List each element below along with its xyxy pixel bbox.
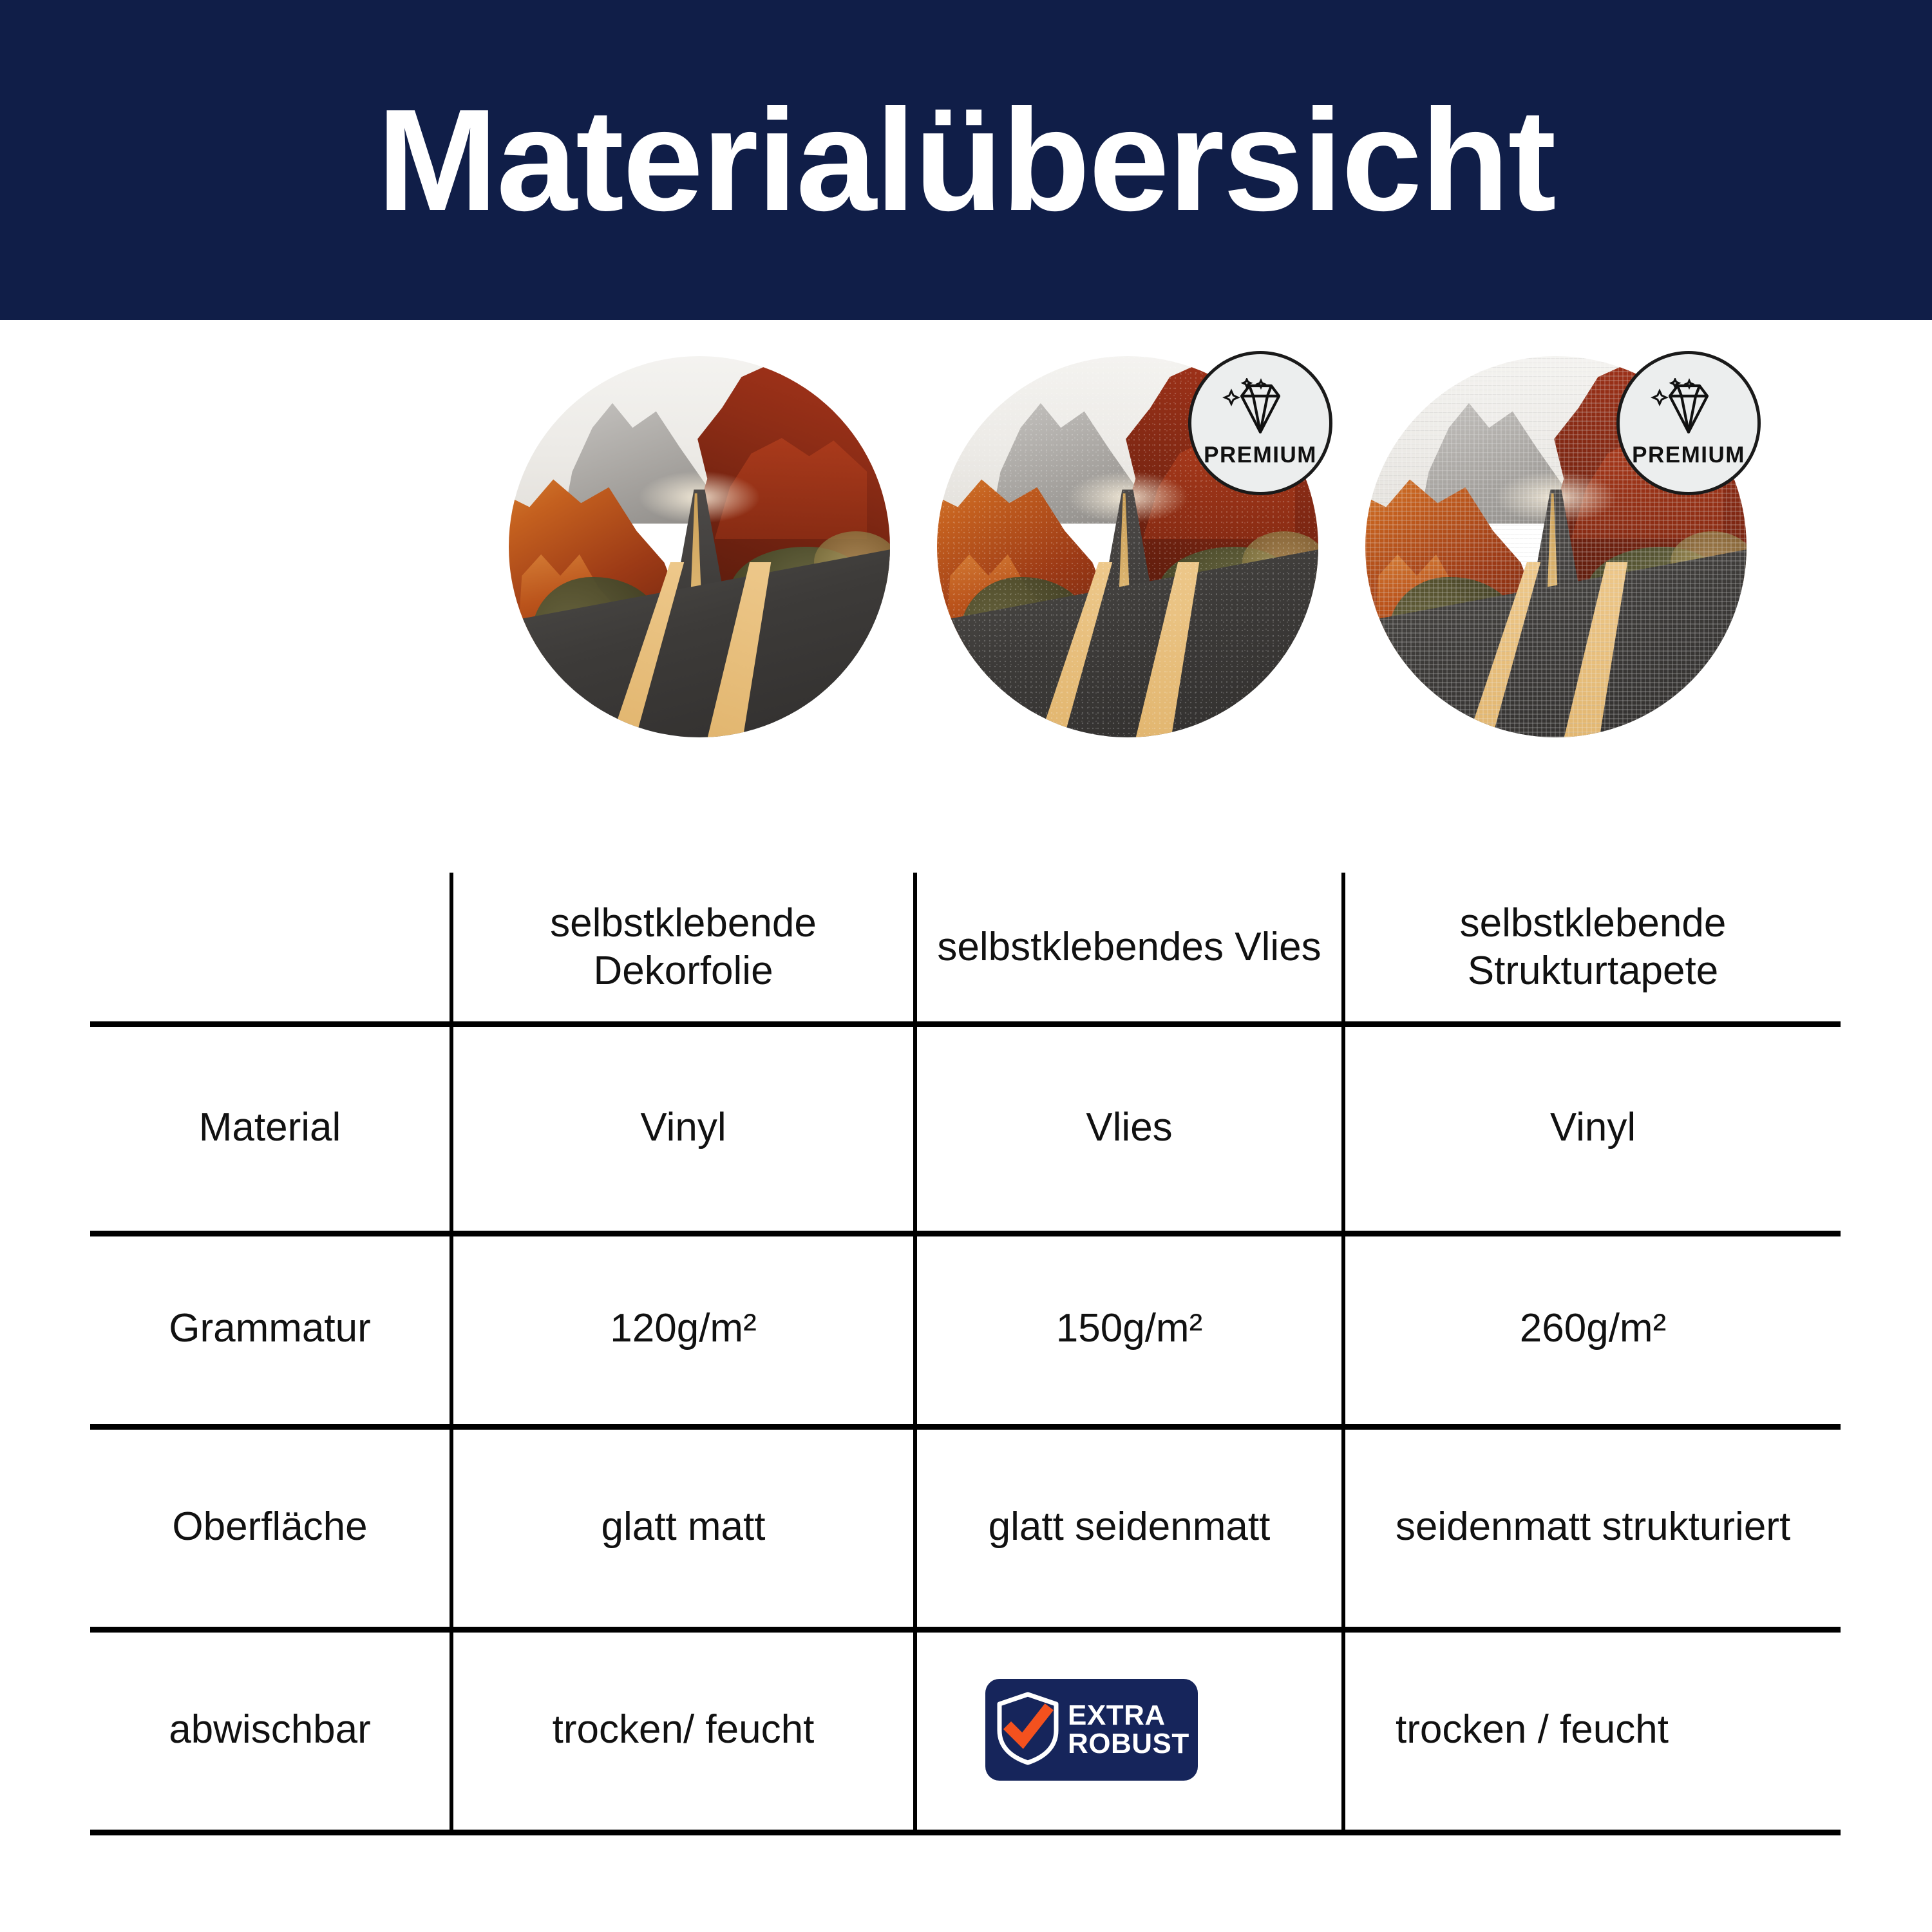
table-cell-abwischbar-dekorfolie: trocken/ feucht [453,1629,913,1830]
premium-badge: PREMIUM [1616,351,1761,495]
sample-image-dekorfolie [509,356,890,737]
table-row-label-material: Material [90,1024,450,1231]
table-header-strukturtapete: selbstklebende Strukturtapete [1345,873,1841,1021]
premium-badge-label: PREMIUM [1632,442,1745,468]
premium-badge-label: PREMIUM [1204,442,1317,468]
premium-badge: PREMIUM [1188,351,1332,495]
page-title: Materialübersicht [377,88,1555,232]
table-cell-grammatur-dekorfolie: 120g/m² [453,1233,913,1424]
table-cell-oberflaeche-vlies: glatt seidenmatt [917,1426,1341,1627]
table-cell-material-strukturtapete: Vinyl [1345,1024,1841,1231]
desert-road-photo [509,356,890,737]
table-cell-material-vlies: Vlies [917,1024,1341,1231]
diamond-icon [1651,378,1727,437]
table-header-vlies: selbstklebendes Vlies [917,873,1341,1021]
table-row-label-abwischbar: abwischbar [90,1629,450,1830]
table-cell-material-dekorfolie: Vinyl [453,1024,913,1231]
extra-robust-line1: EXTRA [1068,1701,1189,1730]
table-row-label-grammatur: Grammatur [90,1233,450,1424]
extra-robust-line2: ROBUST [1068,1730,1189,1758]
sample-circle-strukturtapete: PREMIUM [1365,356,1747,737]
diamond-icon [1222,378,1298,437]
sample-circle-dekorfolie [509,356,890,737]
header-banner: Materialübersicht [0,0,1932,320]
table-cell-grammatur-vlies: 150g/m² [917,1233,1341,1424]
material-comparison-table: selbstklebende Dekorfolie selbstklebende… [90,873,1841,1835]
shield-check-icon [994,1690,1061,1770]
extra-robust-label: EXTRA ROBUST [1068,1701,1189,1758]
table-cell-abwischbar-merged: trocken / feucht [1224,1629,1841,1830]
table-header-dekorfolie: selbstklebende Dekorfolie [453,873,913,1021]
material-overview-infographic: Materialübersicht [0,0,1932,1932]
table-cell-oberflaeche-dekorfolie: glatt matt [453,1426,913,1627]
extra-robust-badge: EXTRA ROBUST [985,1679,1198,1781]
table-row-label-oberflaeche: Oberfläche [90,1426,450,1627]
sample-circle-vlies: PREMIUM [937,356,1318,737]
table-rule [90,1830,1841,1835]
material-sample-circles: PREMIUM [0,356,1932,743]
table-cell-oberflaeche-strukturtapete: seidenmatt strukturiert [1345,1426,1841,1627]
table-cell-grammatur-strukturtapete: 260g/m² [1345,1233,1841,1424]
